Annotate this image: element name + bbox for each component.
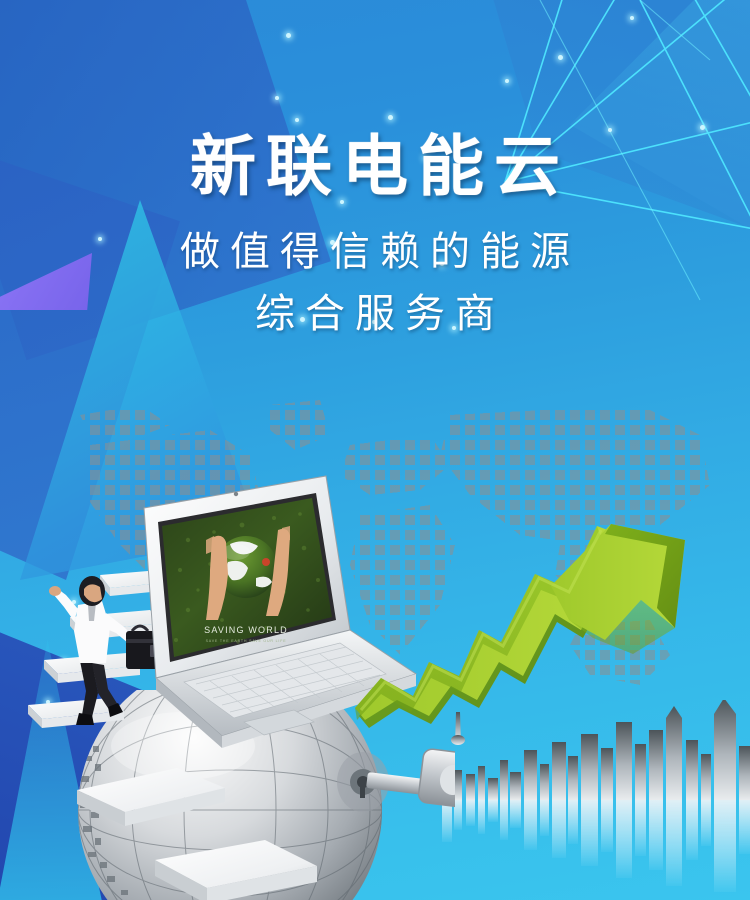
growth-arrow <box>355 520 685 730</box>
city-skyline <box>440 700 750 900</box>
sparkle-dot <box>558 55 563 60</box>
laptop-screen-caption: SAVING WORLD <box>204 625 288 635</box>
sparkle-dot <box>295 118 299 122</box>
sparkle-dot <box>505 79 509 83</box>
sparkle-dot <box>286 33 291 38</box>
subtitle-line-1: 做值得信赖的能源 <box>0 223 750 281</box>
promo-banner: 新联电能云 做值得信赖的能源 综合服务商 <box>0 0 750 900</box>
subtitle-line-2: 综合服务商 <box>0 285 750 343</box>
brand-title: 新联电能云 <box>0 132 750 201</box>
skyline-reflection <box>442 800 750 892</box>
sparkle-dot <box>700 125 705 130</box>
sparkle-dot <box>630 16 634 20</box>
sparkle-dot <box>275 96 279 100</box>
headline-block: 新联电能云 做值得信赖的能源 综合服务商 <box>0 132 750 343</box>
sparkle-dot <box>388 115 393 120</box>
laptop-screen-subcaption: SAVE THE EARTH SAVE OUR LIFE <box>206 639 287 643</box>
